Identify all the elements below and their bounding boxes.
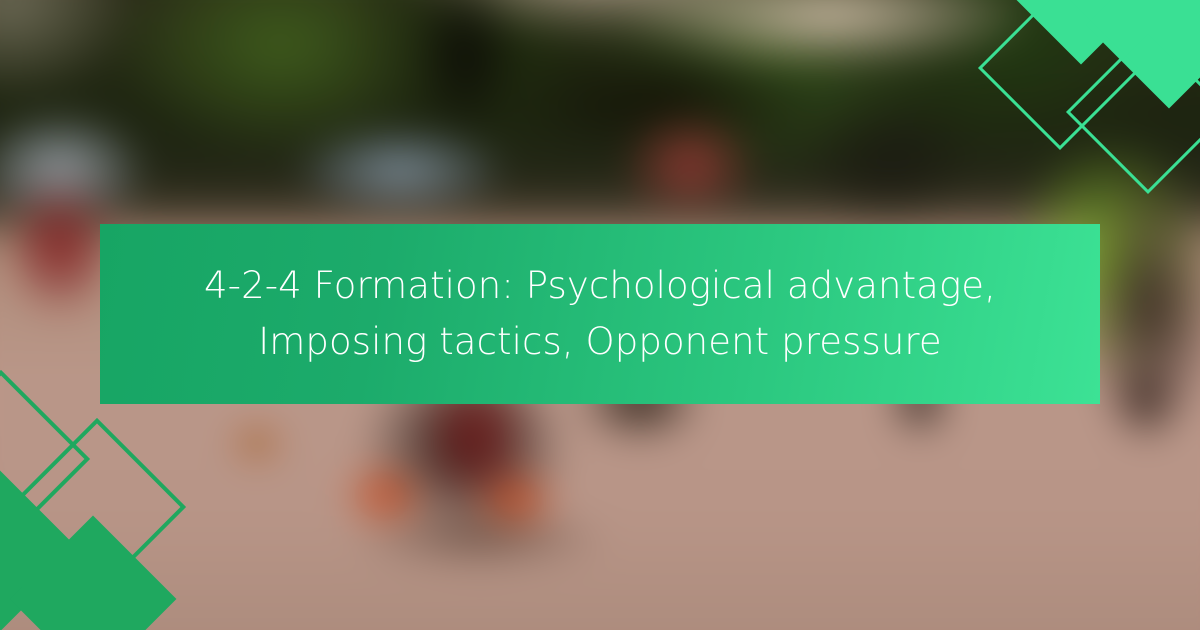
banner-title: 4-2-4 Formation: Psychological advantage…	[204, 258, 996, 370]
background-player-blob	[1110, 360, 1180, 440]
background-crowd-blob	[800, 100, 980, 230]
share-banner-card: 4-2-4 Formation: Psychological advantage…	[0, 0, 1200, 630]
background-ball-blob	[228, 422, 286, 464]
background-shadow-blob	[350, 508, 610, 568]
background-crowd-blob	[290, 125, 510, 215]
background-crowd-blob	[620, 110, 760, 220]
title-banner: 4-2-4 Formation: Psychological advantage…	[100, 224, 1100, 404]
